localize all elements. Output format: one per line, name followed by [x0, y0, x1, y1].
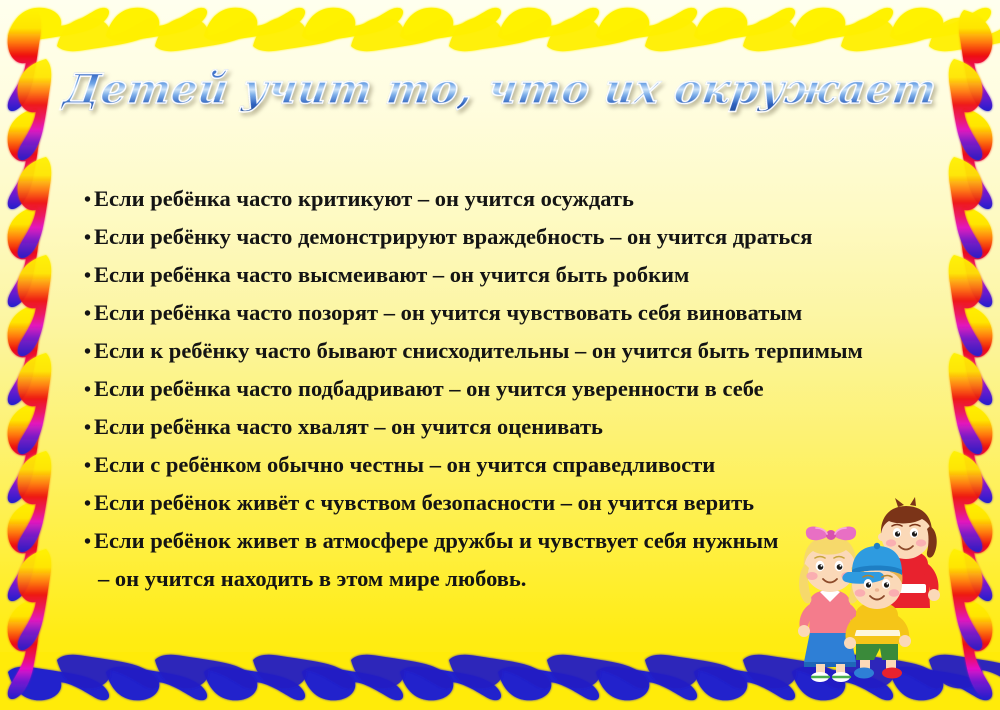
- left-border-flames-secondary: [18, 59, 51, 650]
- bullet-marker: •: [84, 532, 94, 552]
- advice-line: •Если к ребёнку часто бывают снисходител…: [84, 340, 932, 378]
- bullet-marker: •: [84, 228, 94, 248]
- bullet-marker: •: [84, 494, 94, 514]
- bullet-marker: •: [84, 380, 94, 400]
- advice-line-text: Если ребёнок живёт с чувством безопаснос…: [94, 492, 754, 515]
- advice-line-text: Если ребёнка часто критикуют – он учится…: [94, 188, 634, 211]
- bullet-marker: •: [84, 190, 94, 210]
- pink-bow: [806, 527, 856, 541]
- top-border-flames: [8, 8, 991, 41]
- advice-line-text: Если ребёнка часто хвалят – он учится оц…: [94, 416, 603, 439]
- advice-line: •Если с ребёнком обычно честны – он учит…: [84, 454, 932, 492]
- left-border-flames: [8, 10, 41, 699]
- advice-line-text: Если ребёнка часто подбадривают – он учи…: [94, 378, 764, 401]
- advice-line: •Если ребёнку часто демонстрируют вражде…: [84, 226, 932, 264]
- advice-line-text: – он учится находить в этом мире любовь.: [98, 568, 526, 591]
- advice-line: •Если ребёнка часто позорят – он учится …: [84, 302, 932, 340]
- advice-line: •Если ребёнка часто подбадривают – он уч…: [84, 378, 932, 416]
- right-border-flames: [959, 10, 992, 699]
- bullet-marker: •: [84, 342, 94, 362]
- advice-line-text: Если ребёнку часто демонстрируют враждеб…: [94, 226, 812, 249]
- poster-title-container: Детей учит то, что их окружает: [0, 68, 1000, 111]
- bullet-marker: •: [84, 266, 94, 286]
- advice-line: •Если ребёнка часто высмеивают – он учит…: [84, 264, 932, 302]
- child-girl-with-bow: [798, 527, 862, 683]
- advice-line-text: Если ребёнка часто высмеивают – он учитс…: [94, 264, 689, 287]
- advice-line-text: Если ребёнка часто позорят – он учится ч…: [94, 302, 802, 325]
- three-cartoon-children-illustration: [794, 492, 962, 682]
- advice-line: •Если ребёнка часто критикуют – он учитс…: [84, 188, 932, 226]
- advice-line-text: Если к ребёнку часто бывают снисходитель…: [94, 340, 863, 363]
- advice-line-text: Если ребёнок живет в атмосфере дружбы и …: [94, 530, 778, 553]
- poster-root: Детей учит то, что их окружает •Если реб…: [0, 0, 1000, 710]
- advice-line-text: Если с ребёнком обычно честны – он учитс…: [94, 454, 715, 477]
- advice-line: •Если ребёнка часто хвалят – он учится о…: [84, 416, 932, 454]
- bullet-marker: •: [84, 418, 94, 438]
- bullet-marker: •: [84, 304, 94, 324]
- top-border-flames-secondary: [57, 18, 1000, 51]
- poster-title: Детей учит то, что их окружает: [61, 68, 939, 111]
- bullet-marker: •: [84, 456, 94, 476]
